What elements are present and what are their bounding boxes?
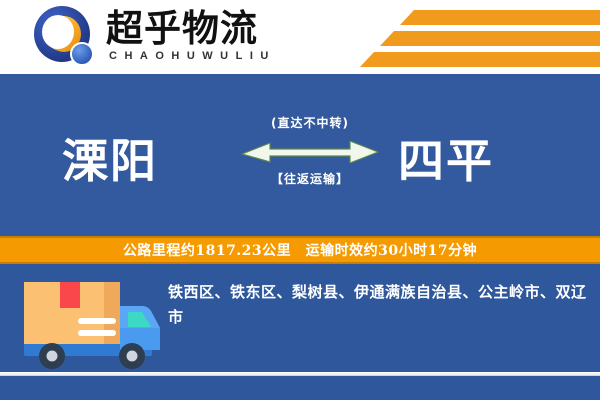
distance-duration-bar: 公路里程约1817.23公里 运输时效约30小时17分钟	[0, 236, 600, 264]
logo-dot	[70, 42, 94, 66]
coverage-districts: 铁西区、铁东区、梨树县、伊通满族自治县、公主岭市、双辽市	[168, 280, 588, 330]
brand-logo[interactable]: 超乎物流 CHAOHUWULIU	[34, 6, 276, 68]
road-line	[0, 372, 600, 376]
decorative-stripes	[320, 8, 600, 68]
bidirectional-arrow-icon	[240, 135, 380, 165]
round-trip-note: 【往返运输】	[240, 170, 380, 187]
brand-name-en: CHAOHUWULIU	[106, 49, 276, 63]
route-panel: 溧阳 (直达不中转) 【往返运输】 四平	[0, 74, 600, 236]
stripe-3	[360, 52, 600, 67]
logo-crescent-cut	[42, 15, 74, 49]
brand-name-cn: 超乎物流	[106, 7, 276, 49]
route-middle: (直达不中转) 【往返运输】	[240, 114, 380, 187]
delivery-truck-icon	[16, 276, 162, 374]
origin-city: 溧阳	[62, 125, 158, 191]
direct-route-note: (直达不中转)	[240, 114, 380, 131]
banner-header: 超乎物流 CHAOHUWULIU	[0, 0, 600, 74]
brand-text: 超乎物流 CHAOHUWULIU	[106, 6, 276, 63]
chaohu-logo-mark-icon	[34, 6, 96, 68]
stripe-2	[380, 31, 600, 46]
stripe-1	[400, 10, 600, 25]
coverage-panel: 铁西区、铁东区、梨树县、伊通满族自治县、公主岭市、双辽市	[0, 264, 600, 400]
logistics-route-banner: 超乎物流 CHAOHUWULIU 溧阳 (直达不中转) 【往返运输】 四平 公路…	[0, 0, 600, 400]
destination-city: 四平	[398, 125, 494, 191]
distance-duration-text: 公路里程约1817.23公里 运输时效约30小时17分钟	[123, 240, 477, 260]
